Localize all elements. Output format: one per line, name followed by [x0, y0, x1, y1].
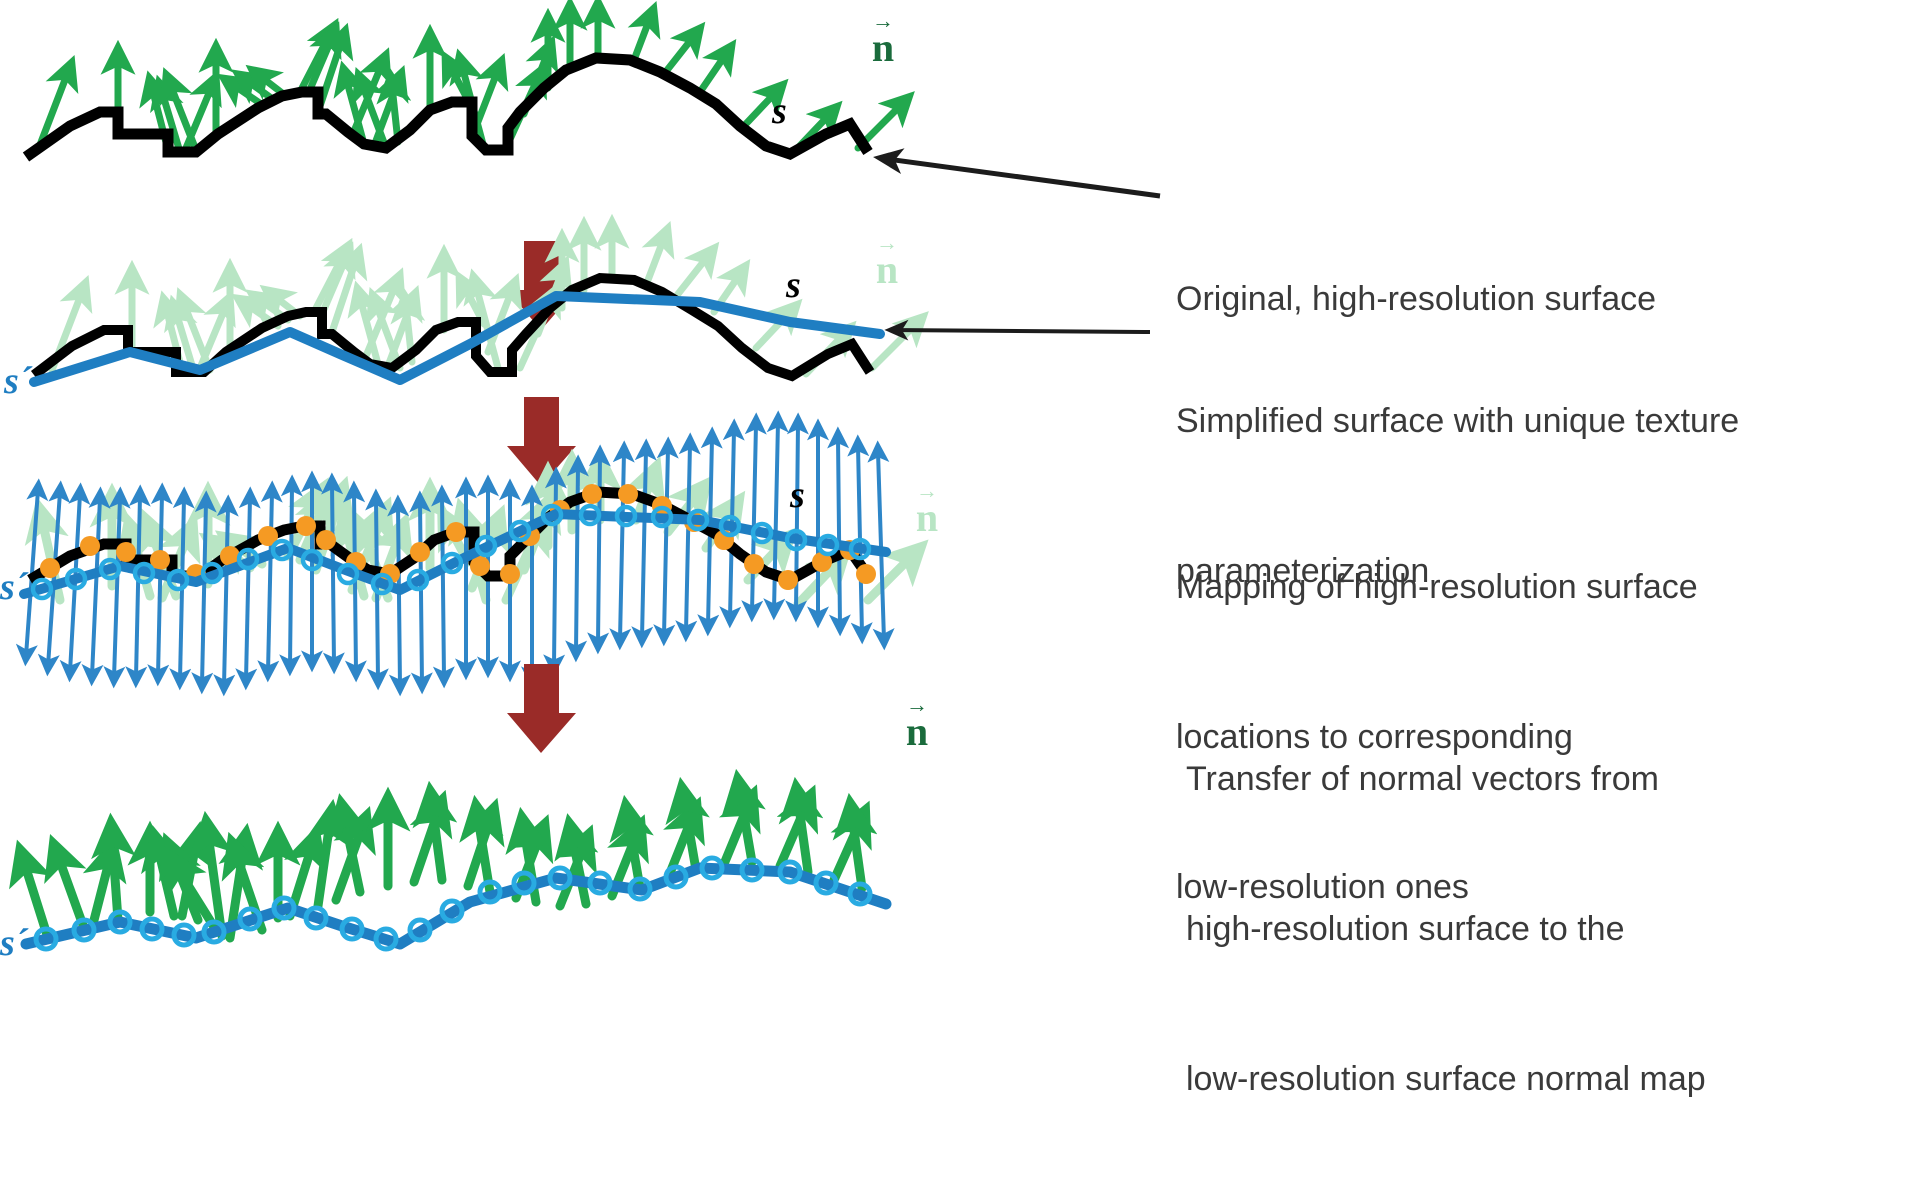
surface-label-s-2: s — [786, 266, 801, 304]
normal-glyph: n — [896, 712, 938, 752]
caption-line: Transfer of normal vectors from — [1186, 754, 1706, 804]
normal-label-n-4: → n — [896, 700, 938, 752]
diagram-canvas: s → n s s´ → n s s´ → n s´ → n Original,… — [0, 0, 1920, 1078]
leader-line-2 — [890, 330, 1150, 332]
flow-arrow-2 — [507, 397, 576, 486]
surface-label-s-prime-2: s´ — [4, 362, 31, 400]
normal-label-n-2: → n — [866, 238, 908, 290]
panel-3-group — [24, 422, 912, 686]
surface-label-s-prime-3: s´ — [0, 568, 27, 606]
panel-1-group — [26, 12, 1160, 196]
low-resolution-surface-2 — [34, 296, 880, 382]
caption-transfer: Transfer of normal vectors from high-res… — [1186, 654, 1706, 1204]
surface-label-s-3: s — [790, 476, 805, 514]
panel-2-group — [34, 232, 1150, 382]
high-resolution-surface-1 — [26, 58, 868, 157]
caption-line: high-resolution surface to the — [1186, 904, 1706, 954]
normal-label-n-1: → n — [862, 16, 904, 68]
normal-glyph: n — [906, 498, 948, 538]
surface-label-s-1: s — [772, 92, 787, 130]
caption-line: Mapping of high-resolution surface — [1176, 562, 1698, 612]
panel-4-group — [24, 792, 886, 949]
normal-glyph: n — [862, 28, 904, 68]
normal-label-n-3: → n — [906, 486, 948, 538]
leader-line-1 — [880, 158, 1160, 196]
surface-label-s-prime-4: s´ — [0, 924, 27, 962]
flow-arrow-3 — [507, 664, 576, 753]
normal-glyph: n — [866, 250, 908, 290]
caption-line: Simplified surface with unique texture — [1176, 396, 1739, 446]
caption-line: low-resolution surface normal map — [1186, 1054, 1706, 1104]
